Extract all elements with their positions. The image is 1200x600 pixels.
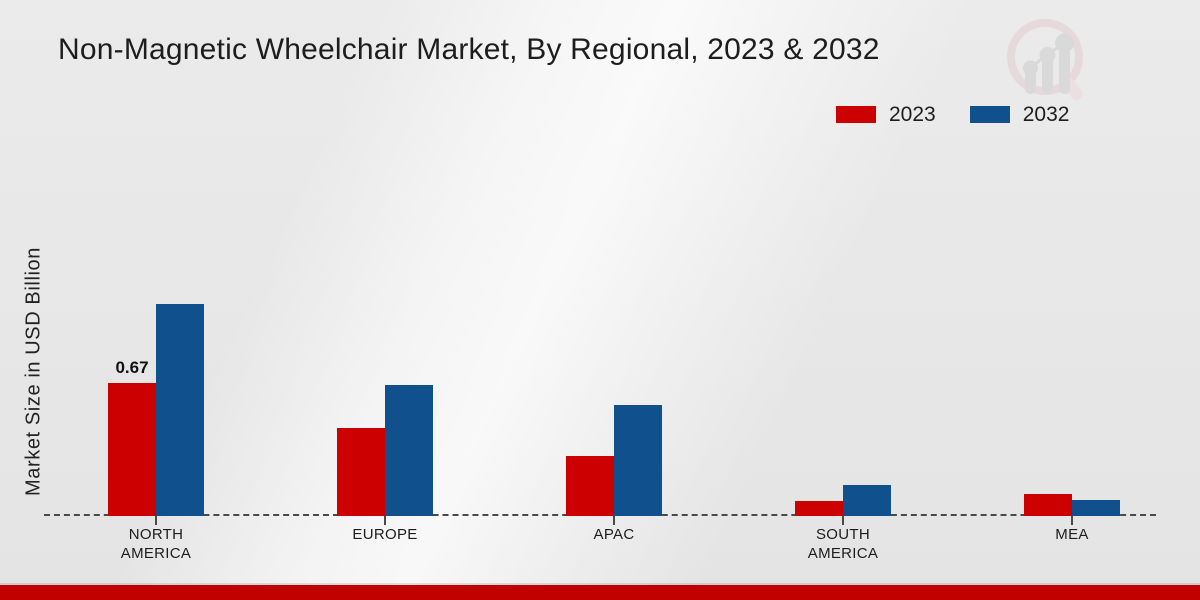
x-label-line: AMERICA	[61, 544, 251, 563]
bar-mea-2023[interactable]	[1024, 494, 1072, 516]
x-label-mea: MEA	[977, 525, 1167, 544]
x-label-line: SOUTH	[748, 525, 938, 544]
chart-legend: 2023 2032	[836, 104, 1069, 125]
x-tick-north-america	[155, 516, 157, 525]
legend-item-2032[interactable]: 2032	[970, 104, 1070, 125]
bar-group-europe: EUROPE	[337, 130, 433, 516]
x-tick-south-america	[842, 516, 844, 525]
legend-label-2032: 2032	[1023, 104, 1070, 125]
x-tick-mea	[1071, 516, 1073, 525]
bar-group-south-america: SOUTH AMERICA	[795, 130, 891, 516]
x-tick-europe	[384, 516, 386, 525]
value-label-north-america-2023: 0.67	[102, 358, 162, 378]
plot-area: 0.67 NORTH AMERICA EUROPE APAC	[44, 130, 1156, 516]
bar-north-america-2023[interactable]	[108, 383, 156, 516]
x-label-line: APAC	[519, 525, 709, 544]
bar-group-north-america: 0.67 NORTH AMERICA	[108, 130, 204, 516]
x-label-line: NORTH	[61, 525, 251, 544]
x-label-europe: EUROPE	[290, 525, 480, 544]
x-label-line: AMERICA	[748, 544, 938, 563]
bar-europe-2023[interactable]	[337, 428, 385, 516]
footer-bar	[0, 585, 1200, 600]
bar-chart-icon	[1023, 34, 1074, 95]
legend-item-2023[interactable]: 2023	[836, 104, 936, 125]
legend-label-2023: 2023	[889, 104, 936, 125]
bar-group-mea: MEA	[1024, 130, 1120, 516]
bar-south-america-2023[interactable]	[795, 501, 843, 516]
chart-container: Non-Magnetic Wheelchair Market, By Regio…	[0, 0, 1200, 600]
x-label-line: MEA	[977, 525, 1167, 544]
x-label-north-america: NORTH AMERICA	[61, 525, 251, 563]
bar-group-apac: APAC	[566, 130, 662, 516]
x-tick-apac	[613, 516, 615, 525]
bar-apac-2023[interactable]	[566, 456, 614, 516]
legend-swatch-2023	[836, 106, 876, 123]
x-label-line: EUROPE	[290, 525, 480, 544]
bar-south-america-2032[interactable]	[843, 485, 891, 516]
bar-apac-2032[interactable]	[614, 405, 662, 516]
chart-title: Non-Magnetic Wheelchair Market, By Regio…	[58, 33, 880, 67]
legend-swatch-2032	[970, 106, 1010, 123]
bar-europe-2032[interactable]	[385, 385, 433, 516]
magnifier-icon	[1011, 23, 1085, 103]
y-axis-title: Market Size in USD Billion	[23, 202, 46, 542]
bar-mea-2032[interactable]	[1072, 500, 1120, 516]
x-label-apac: APAC	[519, 525, 709, 544]
watermark-logo	[995, 10, 1103, 105]
x-label-south-america: SOUTH AMERICA	[748, 525, 938, 563]
bar-north-america-2032[interactable]	[156, 304, 204, 516]
